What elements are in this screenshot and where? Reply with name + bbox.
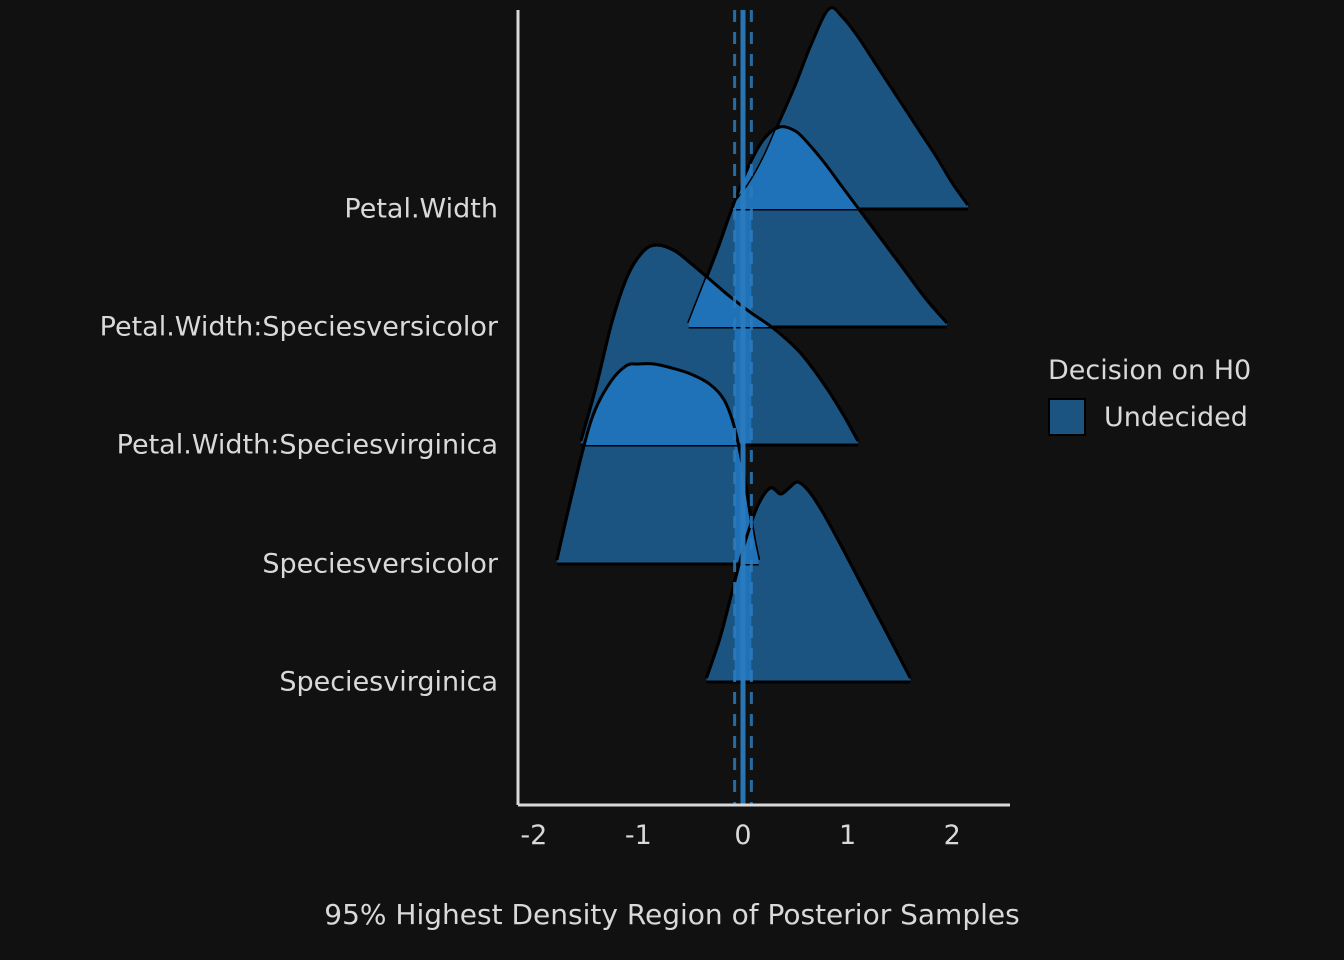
legend: Decision on H0 Undecided (1048, 355, 1338, 436)
legend-title: Decision on H0 (1048, 355, 1338, 386)
legend-item-0[interactable]: Undecided (1048, 398, 1338, 436)
y-axis-label-4: Speciesvirginica (0, 667, 498, 698)
x-axis-tick-4: 2 (944, 820, 961, 851)
x-axis-tick-1: -1 (625, 820, 652, 851)
legend-items: Undecided (1048, 398, 1338, 436)
x-axis-caption: 95% Highest Density Region of Posterior … (0, 898, 1344, 931)
ridgeline-chart-root: Petal.WidthPetal.Width:Speciesversicolor… (0, 0, 1344, 960)
y-axis-label-2: Petal.Width:Speciesvirginica (0, 430, 498, 461)
y-axis-label-0: Petal.Width (0, 194, 498, 225)
legend-label-0: Undecided (1104, 402, 1248, 433)
y-axis-label-1: Petal.Width:Speciesversicolor (0, 312, 498, 343)
x-axis-tick-2: 0 (734, 820, 751, 851)
y-axis-label-group: Petal.WidthPetal.Width:Speciesversicolor… (0, 0, 498, 960)
x-axis-tick-3: 1 (839, 820, 856, 851)
y-axis-label-3: Speciesversicolor (0, 549, 498, 580)
x-axis-tick-0: -2 (520, 820, 547, 851)
legend-swatch-0 (1048, 398, 1086, 436)
ridge-series-group (557, 8, 968, 682)
